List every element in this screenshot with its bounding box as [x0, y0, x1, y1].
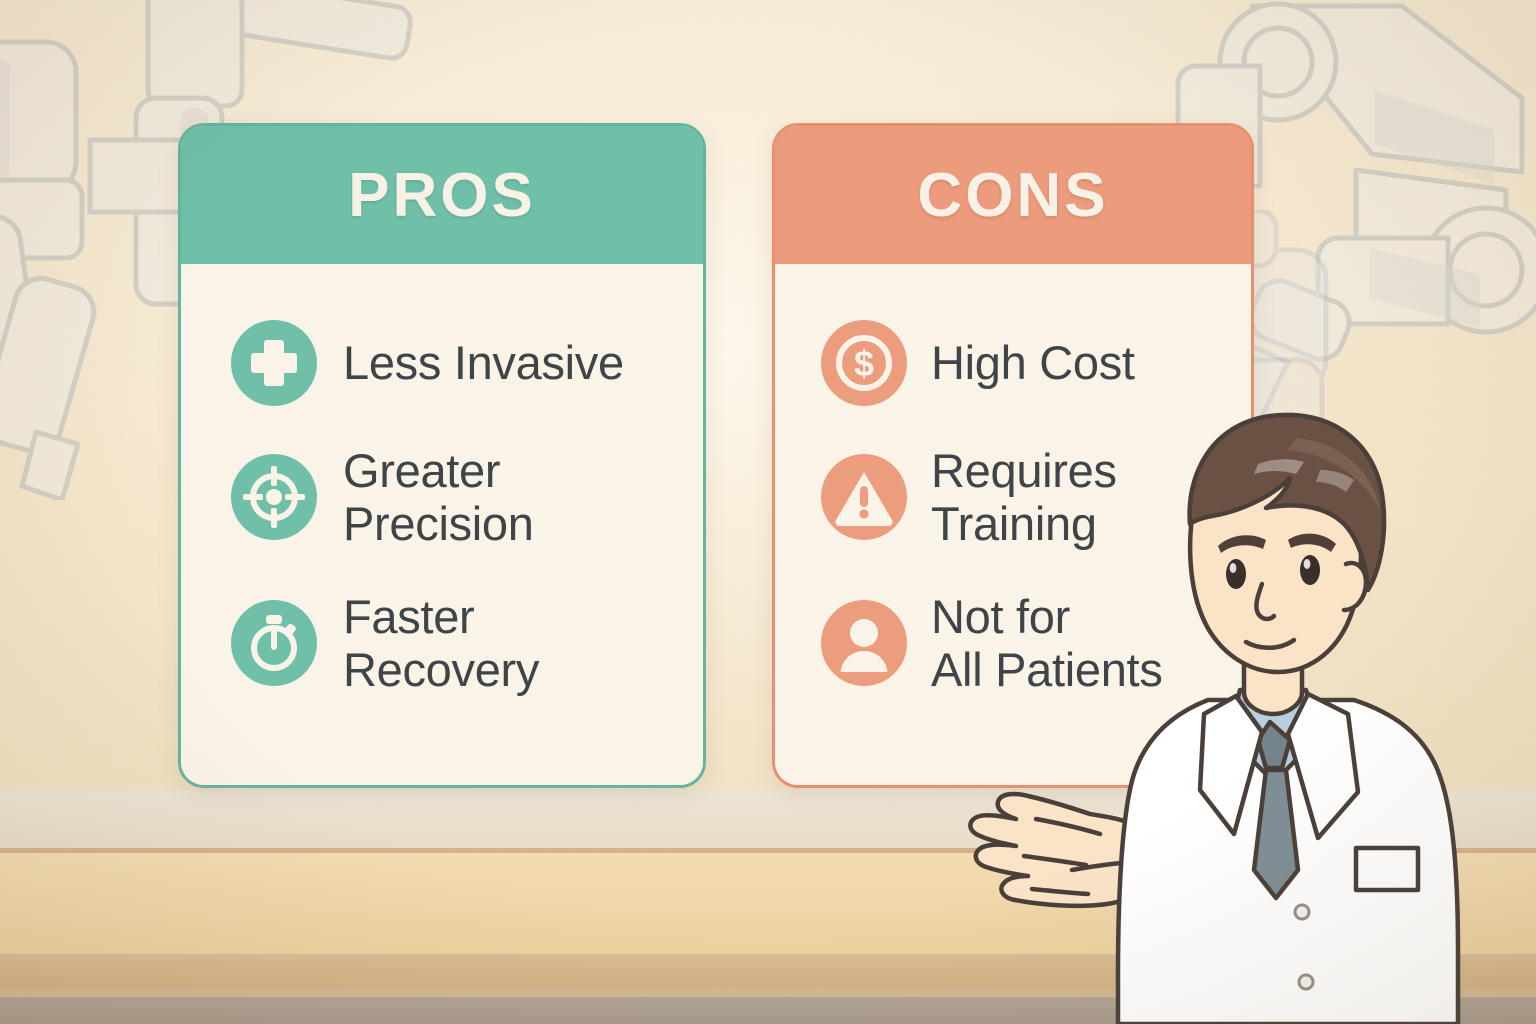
infographic-scene: PROS Less Invasive	[0, 0, 1536, 1024]
vignette-overlay	[0, 0, 1536, 1024]
